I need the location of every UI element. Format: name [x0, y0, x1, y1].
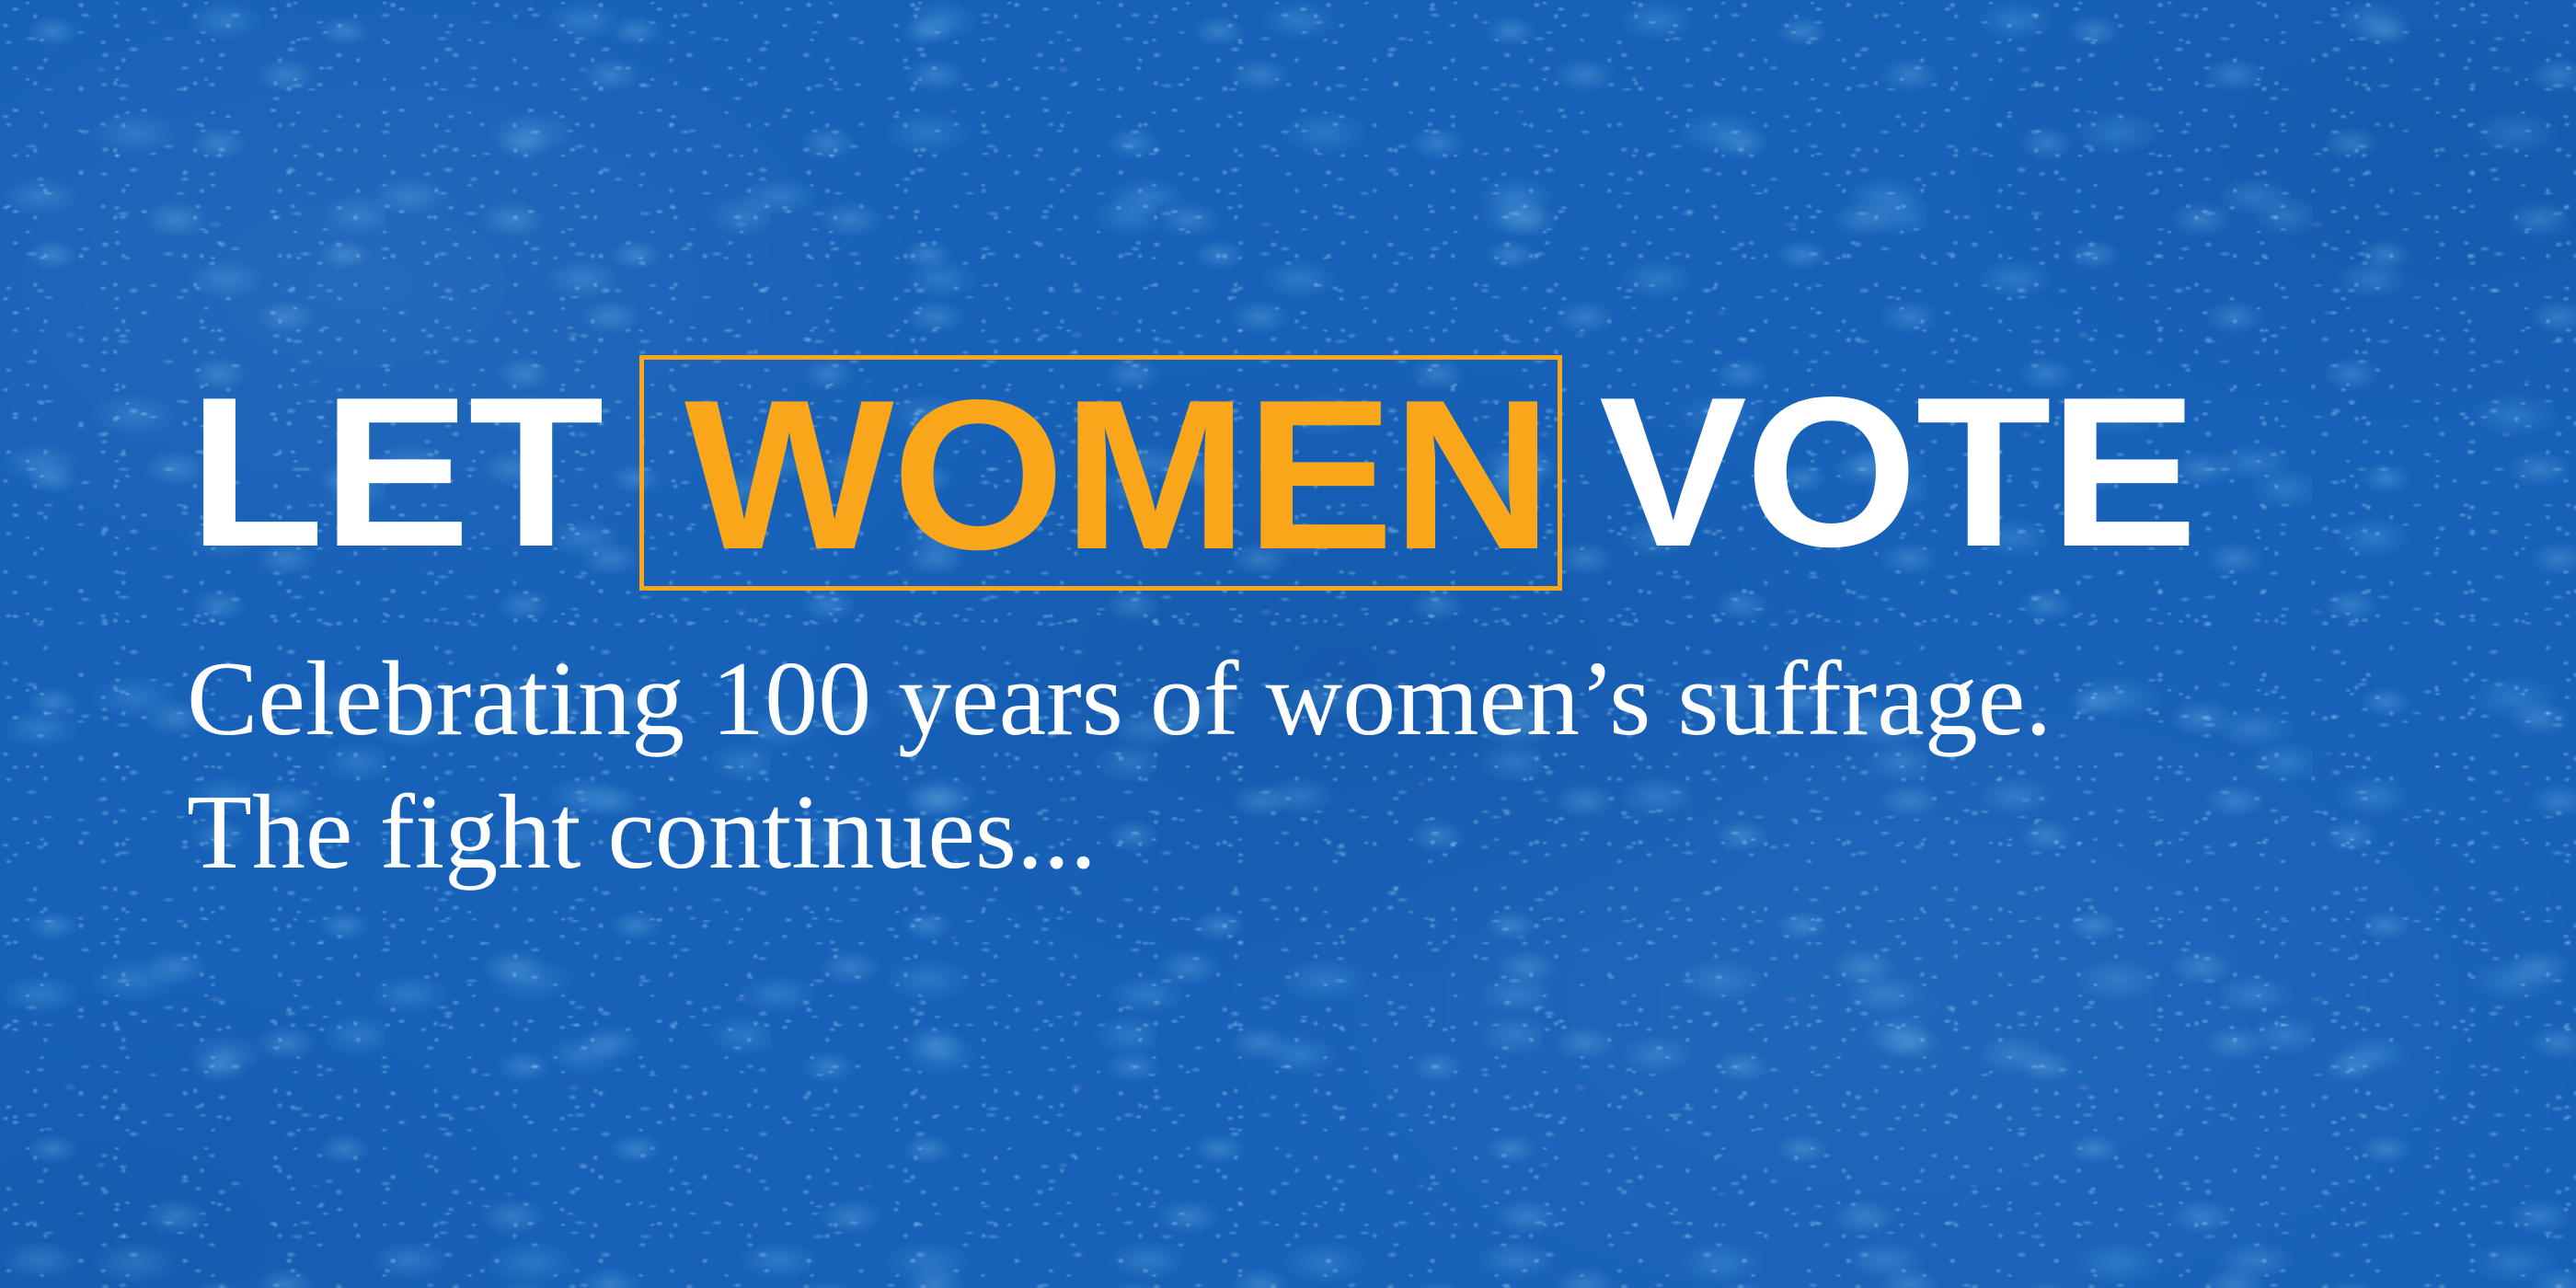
headline-word-women: WOMEN — [684, 369, 1550, 582]
headline-women-box: WOMEN — [639, 355, 1562, 591]
let-women-vote-banner: LET WOMEN VOTE Celebrating 100 years of … — [0, 0, 2576, 1288]
headline-word-let: LET — [189, 366, 602, 580]
subtitle: Celebrating 100 years of women’s suffrag… — [187, 633, 2052, 900]
banner-content: LET WOMEN VOTE Celebrating 100 years of … — [0, 0, 2576, 1288]
subtitle-line-2: The fight continues... — [187, 766, 2052, 900]
subtitle-line-1: Celebrating 100 years of women’s suffrag… — [187, 633, 2052, 766]
headline-word-vote: VOTE — [1599, 366, 2196, 580]
headline: LET WOMEN VOTE — [189, 350, 2173, 596]
